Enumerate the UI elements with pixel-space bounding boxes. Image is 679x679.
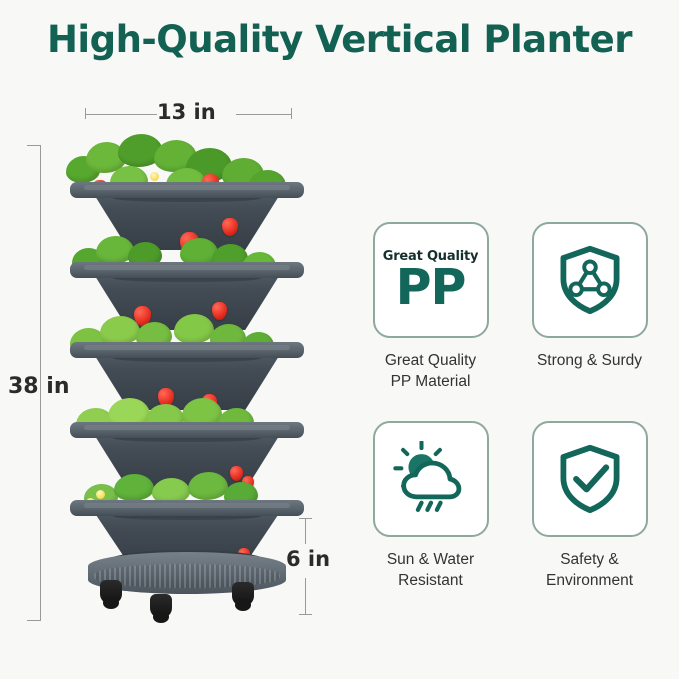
planter-tier xyxy=(62,174,312,258)
feature-grid: Great Quality PP Great Quality PP Materi… xyxy=(360,222,660,598)
shield-check-icon xyxy=(532,421,648,537)
planter-rim xyxy=(70,182,304,198)
width-cap-right xyxy=(291,108,292,119)
width-rule-left xyxy=(85,114,157,115)
feature-caption-line2: Environment xyxy=(546,571,633,592)
planter-rim xyxy=(70,342,304,358)
width-cap-left xyxy=(85,108,86,119)
sun-cloud-rain-icon xyxy=(373,421,489,537)
height-cap-bottom xyxy=(27,620,40,621)
height-dimension-label: 38 in xyxy=(8,374,69,399)
planter-tier xyxy=(62,254,312,338)
pp-badge-large-text: PP xyxy=(396,265,466,312)
pp-material-icon: Great Quality PP xyxy=(373,222,489,338)
planter-rim xyxy=(70,422,304,438)
feature-strong-sturdy[interactable]: Strong & Surdy xyxy=(519,222,660,399)
feature-safety-environment[interactable]: Safety & Environment xyxy=(519,421,660,598)
infographic-canvas: High-Quality Vertical Planter 13 in 38 i… xyxy=(0,0,679,679)
feature-caption-line2: Resistant xyxy=(387,571,474,592)
feature-caption-line1: Great Quality xyxy=(385,351,476,372)
feature-pp-material[interactable]: Great Quality PP Great Quality PP Materi… xyxy=(360,222,501,399)
feature-caption: Safety & Environment xyxy=(546,550,633,592)
planter-rim xyxy=(70,500,304,516)
caster-wheel xyxy=(100,580,122,604)
planter-tier xyxy=(62,334,312,418)
feature-caption: Great Quality PP Material xyxy=(385,351,476,393)
feature-caption-line1: Safety & xyxy=(546,550,633,571)
feature-caption: Strong & Surdy xyxy=(537,351,642,372)
feature-caption-line1: Strong & Surdy xyxy=(537,351,642,372)
product-image xyxy=(62,132,312,632)
shield-triangle-icon xyxy=(532,222,648,338)
planter-rim xyxy=(70,262,304,278)
page-title: High-Quality Vertical Planter xyxy=(0,18,679,61)
feature-caption-line2: PP Material xyxy=(385,372,476,393)
feature-caption-line1: Sun & Water xyxy=(387,550,474,571)
height-cap-top xyxy=(27,145,40,146)
width-rule-right xyxy=(236,114,292,115)
caster-wheel xyxy=(150,594,172,618)
caster-wheel xyxy=(232,582,254,606)
planter-tier xyxy=(62,414,312,498)
width-dimension-label: 13 in xyxy=(157,100,216,124)
feature-caption: Sun & Water Resistant xyxy=(387,550,474,592)
feature-sun-water-resistant[interactable]: Sun & Water Resistant xyxy=(360,421,501,598)
